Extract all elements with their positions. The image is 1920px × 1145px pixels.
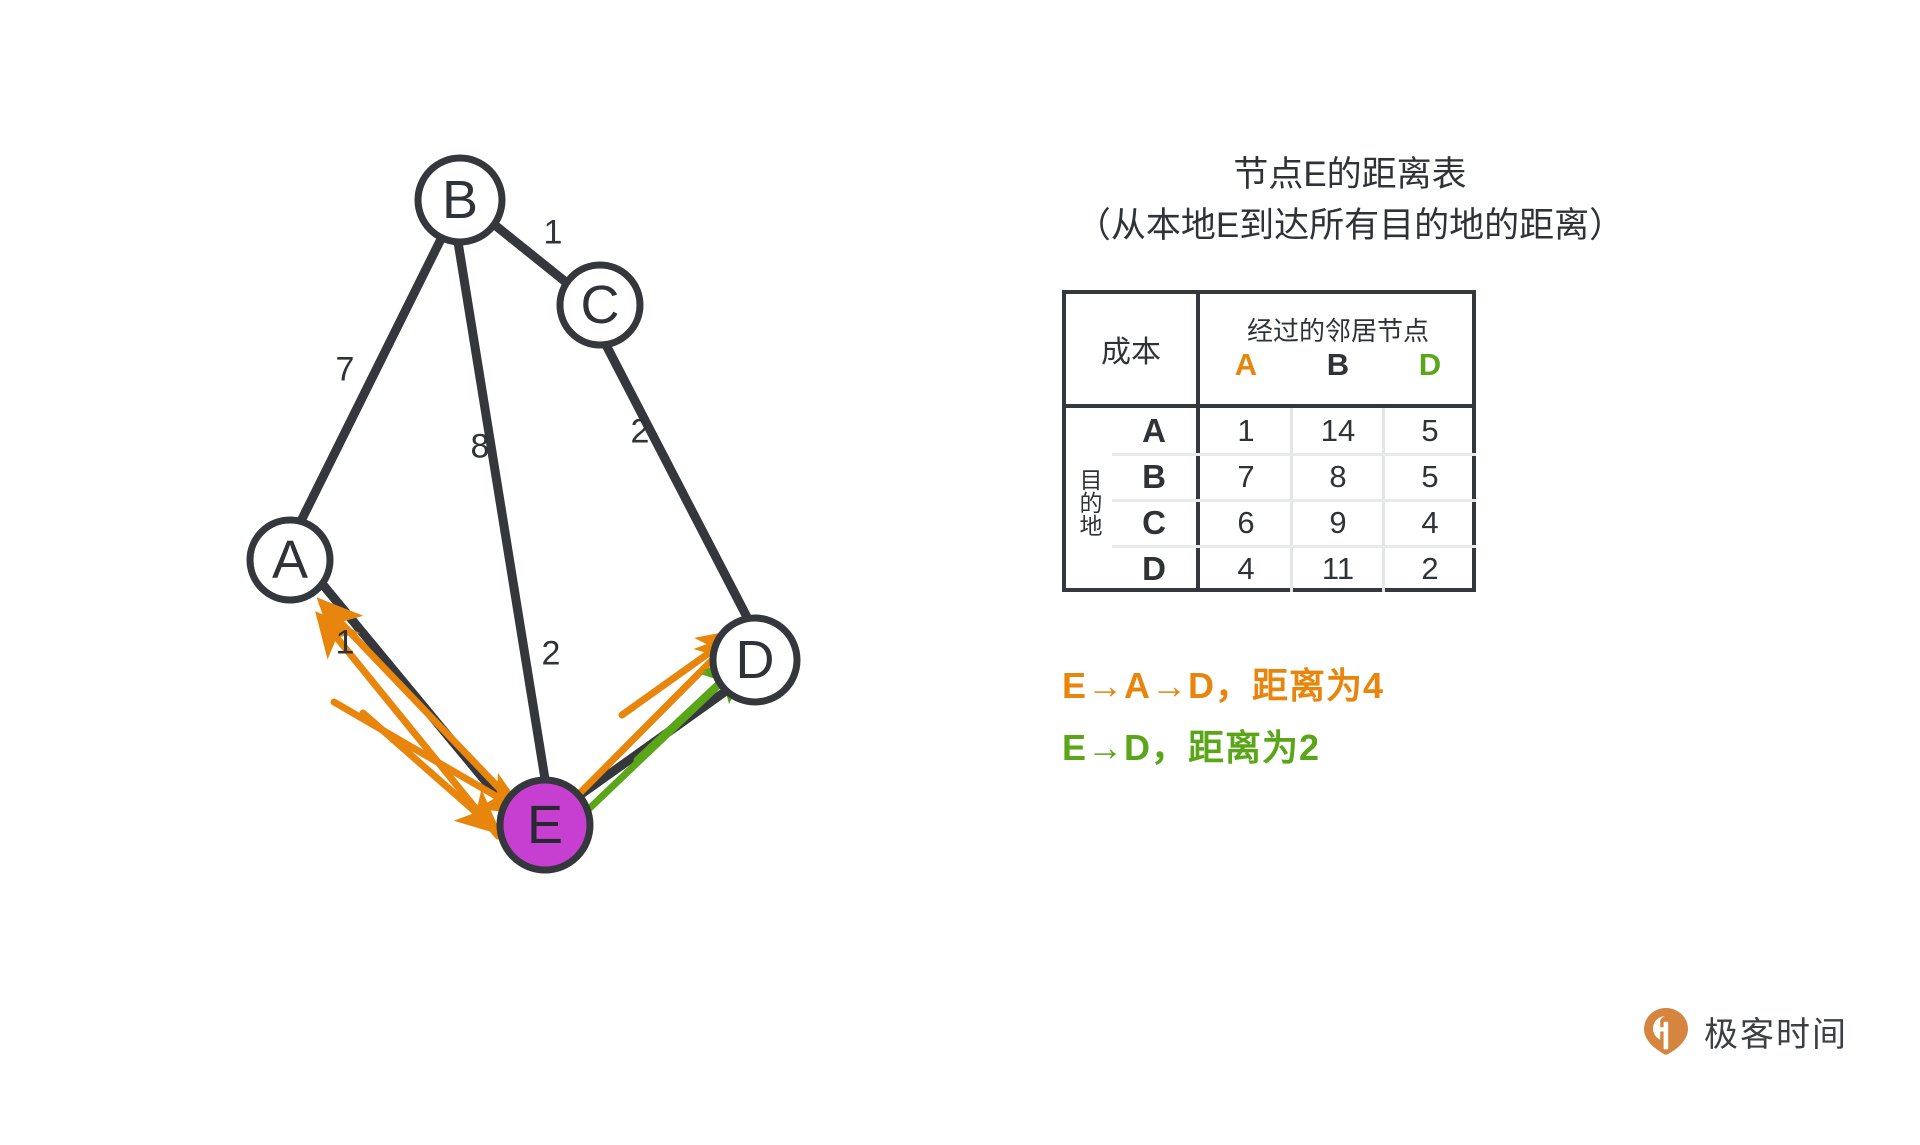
node-C-circle	[560, 265, 640, 345]
cell-B-viaB: 8	[1292, 454, 1384, 500]
edge-weight-E-D: 2	[542, 635, 561, 674]
cell-C-viaD: 4	[1384, 500, 1476, 546]
edge-weight-B-A: 7	[336, 351, 355, 390]
node-A-circle	[250, 520, 330, 600]
right-panel: 节点E的距离表 （从本地E到达所有目的地的距离） 成本 经过的邻居节点 A B …	[1000, 0, 1920, 1145]
cost-header-cell: 成本	[1066, 294, 1196, 404]
node-D-circle	[713, 618, 797, 702]
arrow-A-to-E-1	[334, 702, 520, 810]
via-column-B: B	[1292, 348, 1384, 382]
via-column-A: A	[1200, 348, 1292, 382]
edge-C-D	[606, 345, 748, 619]
edge-weight-B-E: 8	[471, 428, 490, 467]
cell-C-viaA: 6	[1200, 500, 1292, 546]
row-label-C: C	[1112, 500, 1196, 546]
cell-A-viaD: 5	[1384, 408, 1476, 454]
edge-weight-A-E: 1	[336, 624, 355, 663]
via-header-label: 经过的邻居节点	[1247, 316, 1429, 346]
row-label-A: A	[1112, 408, 1196, 454]
distance-table: 成本 经过的邻居节点 A B D 目的地 A B C D	[1062, 290, 1476, 592]
cell-B-viaA: 7	[1200, 454, 1292, 500]
route-note-green: E→D，距离为2	[1062, 717, 1662, 779]
cell-A-viaB: 14	[1292, 408, 1384, 454]
node-E-circle	[500, 780, 590, 870]
graph-svg	[0, 0, 1000, 1000]
cell-D-viaA: 4	[1200, 546, 1292, 592]
table-row: 7 8 5	[1200, 454, 1476, 500]
diagram-canvas: A B C D E 7 8 1 2 1 2 节点E的距离表 （从本地E到达所有目…	[0, 0, 1920, 1145]
table-row: 6 9 4	[1200, 500, 1476, 546]
edge-B-A	[301, 239, 441, 521]
cell-B-viaD: 5	[1384, 454, 1476, 500]
edge-weight-B-C: 1	[544, 214, 563, 253]
panel-title-line2: （从本地E到达所有目的地的距离）	[1000, 200, 1700, 252]
cell-C-viaB: 9	[1292, 500, 1384, 546]
edge-weight-C-D: 2	[631, 413, 650, 452]
cell-D-viaB: 11	[1292, 546, 1384, 592]
route-note-orange: E→A→D，距离为4	[1062, 655, 1662, 717]
edge-B-E	[458, 242, 545, 779]
via-header-cell: 经过的邻居节点 A B D	[1200, 294, 1476, 404]
graph-nodes	[250, 158, 797, 870]
table-row: 4 11 2	[1200, 546, 1476, 592]
network-graph: A B C D E 7 8 1 2 1 2	[0, 0, 1000, 1000]
brand-logo: 极客时间	[1640, 1005, 1848, 1057]
cell-D-viaD: 2	[1384, 546, 1476, 592]
panel-title-block: 节点E的距离表 （从本地E到达所有目的地的距离）	[1000, 150, 1700, 252]
cell-A-viaA: 1	[1200, 408, 1292, 454]
row-label-B: B	[1112, 454, 1196, 500]
brand-logo-text: 极客时间	[1704, 1007, 1848, 1056]
row-label-D: D	[1112, 546, 1196, 592]
destination-axis-label: 目的地	[1068, 412, 1110, 592]
node-B-circle	[418, 158, 502, 242]
via-column-D: D	[1384, 348, 1476, 382]
via-column-headers: A B D	[1200, 348, 1476, 382]
panel-title-line1: 节点E的距离表	[1000, 150, 1700, 200]
route-annotations: E→A→D，距离为4 E→D，距离为2	[1062, 655, 1662, 779]
table-body: 1 14 5 7 8 5 6 9 4 4 11 2	[1200, 408, 1476, 592]
table-row: 1 14 5	[1200, 408, 1476, 454]
geekbang-mark-icon	[1640, 1005, 1692, 1057]
